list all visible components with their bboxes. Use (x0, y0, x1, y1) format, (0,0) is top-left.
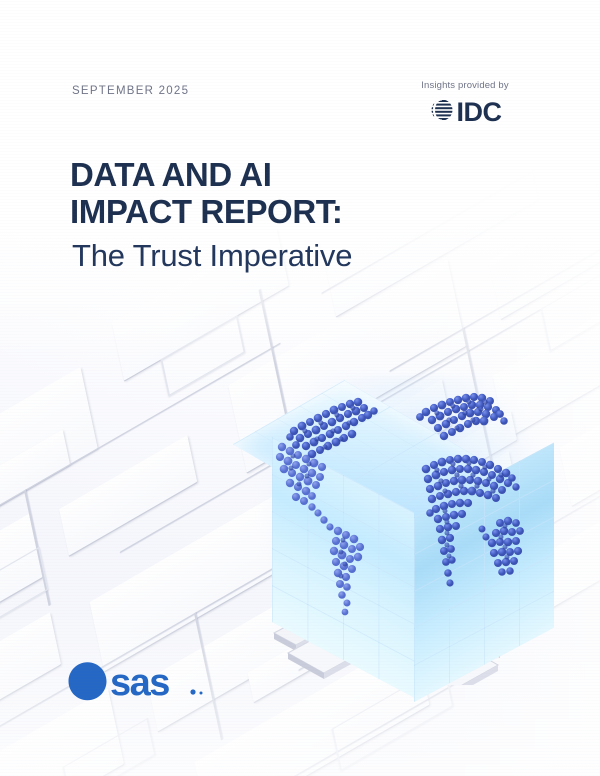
page-title: DATA AND AI IMPACT REPORT: (70, 157, 342, 231)
partner-caption: Insights provided by (385, 80, 545, 91)
translucent-cube (250, 365, 560, 665)
publication-date: SEPTEMBER 2025 (72, 85, 189, 97)
continents-left-face (276, 443, 364, 616)
sas-wordmark-text: sas (110, 662, 169, 704)
sas-swoosh-icon (69, 662, 107, 700)
title-line-2: IMPACT REPORT: (70, 194, 342, 231)
world-map-dot-overlay (250, 365, 560, 665)
report-cover-page: SEPTEMBER 2025 Insights provided by (0, 0, 600, 776)
sas-logo: sas (64, 658, 214, 710)
idc-wordmark: IDC (457, 99, 502, 126)
page-subtitle: The Trust Imperative (72, 238, 352, 274)
idc-logo: IDC (385, 97, 545, 128)
continents-right-face (422, 455, 524, 587)
continents-top-face (286, 393, 508, 458)
data-cube-artwork (250, 365, 560, 665)
title-line-1: DATA AND AI (70, 156, 272, 193)
partner-logo-block: Insights provided by (385, 80, 545, 128)
idc-globe-icon (429, 97, 455, 128)
